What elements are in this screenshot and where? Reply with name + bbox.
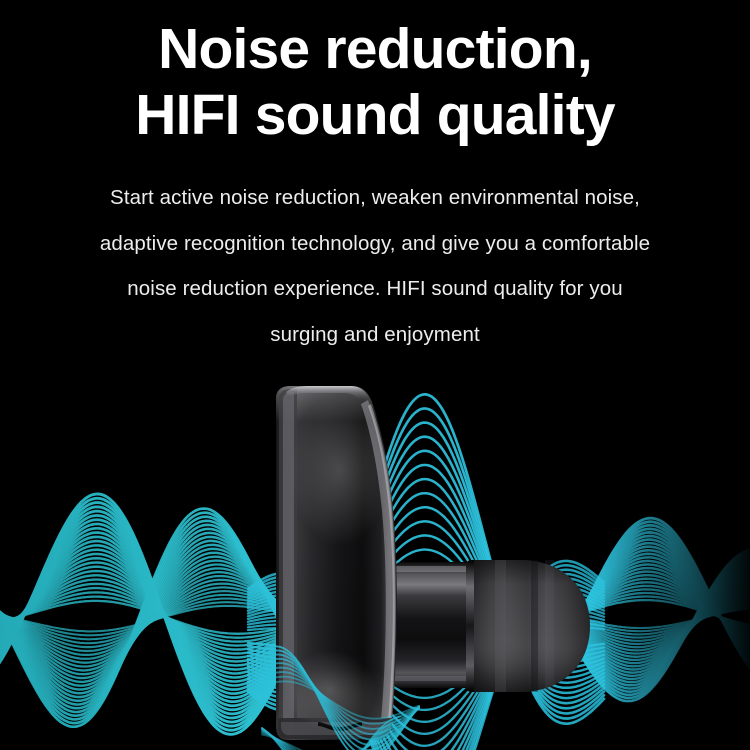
soundwave-graphic-front <box>0 0 750 750</box>
product-artwork <box>0 0 750 750</box>
promo-banner: Noise reduction, HIFI sound quality Star… <box>0 0 750 750</box>
